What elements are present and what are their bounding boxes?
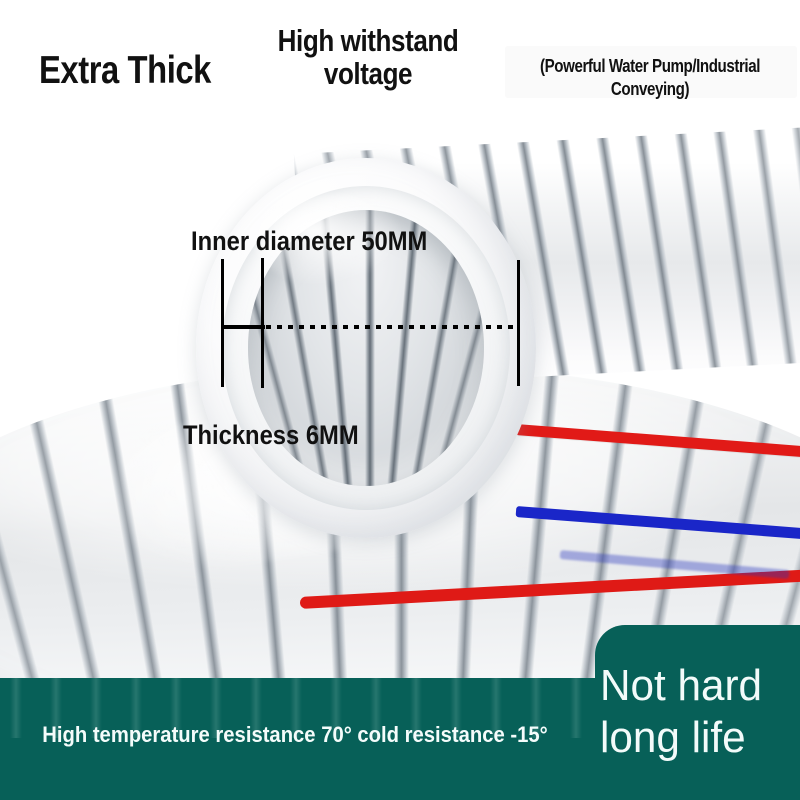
temperature-resistance-claim: High temperature resistance 70° cold res…	[24, 722, 567, 748]
callout-thickness: Thickness 6MM	[183, 420, 359, 451]
product-marketing-image: Extra Thick High withstand voltage (Powe…	[0, 0, 800, 800]
callout-inner-diameter: Inner diameter 50MM	[191, 226, 427, 257]
headline-high-withstand-voltage: High withstand voltage	[263, 25, 473, 91]
dimension-thickness-bar	[221, 325, 265, 329]
headline-application-note: (Powerful Water Pump/Industrial Conveyin…	[524, 55, 776, 100]
dimension-tick-inner-left	[261, 258, 264, 388]
dimension-tick-right	[517, 260, 520, 386]
product-photo	[0, 110, 800, 690]
dimension-tick-outer-left	[221, 259, 224, 387]
feature-panel-text: Not hard long life	[600, 660, 792, 764]
hose-cut-end	[196, 158, 556, 548]
dimension-diameter-dotted-line	[266, 325, 518, 329]
headline-extra-thick: Extra Thick	[24, 50, 226, 91]
